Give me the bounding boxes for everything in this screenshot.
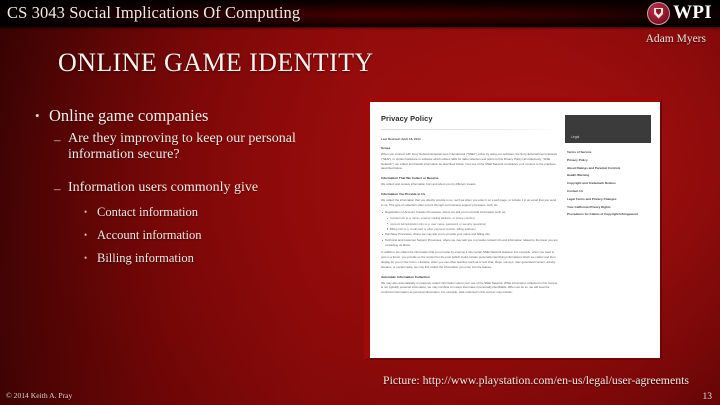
page-number: 13 xyxy=(703,392,713,402)
list-item: – Information users commonly give xyxy=(54,180,362,198)
picture-caption: Picture: http://www.playstation.com/en-u… xyxy=(360,373,712,388)
wpi-seal-icon xyxy=(647,2,670,25)
section-body-provide: We collect the information that you dire… xyxy=(381,198,559,208)
sidebar-item-terms-of-service[interactable]: Terms of Service xyxy=(567,150,651,154)
wpi-logo: WPI xyxy=(647,1,712,25)
bullet-dot-icon: • xyxy=(84,203,97,221)
bullet-sub2-item-2: Billing information xyxy=(97,249,194,267)
sidebar-item-copyright-infringement-claims[interactable]: Procedures for Claims of Copyright Infri… xyxy=(567,212,651,216)
copyright-notice: © 2014 Keith A. Pray xyxy=(6,391,72,400)
bullet-list: • Online game companies – Are they impro… xyxy=(32,105,362,267)
privacy-policy-document: Privacy Policy Last Revised: April 18, 2… xyxy=(370,102,660,358)
section-heading-provide: Information You Provide to Us xyxy=(381,192,559,196)
list-item: • Contact information xyxy=(84,203,362,221)
bullet-level1-text: Online game companies xyxy=(49,105,208,127)
sidebar-item-privacy-policy[interactable]: Privacy Policy xyxy=(567,158,651,162)
sidebar-item-contact-us[interactable]: Contact Us xyxy=(567,189,651,193)
bullet-dot-icon: • xyxy=(32,105,49,127)
shield-icon xyxy=(654,8,663,19)
section-heading-automatic: Automatic Information Collection xyxy=(381,275,559,279)
bullet-dash-icon: – xyxy=(54,180,68,198)
sidebar-item-health-warning[interactable]: Health Warning xyxy=(567,173,651,177)
list-item: Contact info (e.g. name, email or mailin… xyxy=(386,216,559,220)
bullet-dot-icon: • xyxy=(84,226,97,244)
bullet-dot-icon: • xyxy=(84,249,97,267)
sidebar-item-legal-terms-privacy-changes[interactable]: Legal Terms and Privacy Changes xyxy=(567,197,651,201)
list-item: • Account information xyxy=(84,226,362,244)
sidebar-item-california-privacy-rights[interactable]: Your California Privacy Rights xyxy=(567,205,651,209)
legal-panel-title: Legal xyxy=(571,135,579,139)
list-item: Registration or Account Creation Process… xyxy=(381,210,559,215)
list-item: Billing Info (e.g. credit card or other … xyxy=(386,227,559,231)
sidebar-item-ratings-parental-controls[interactable]: About Ratings and Parental Controls xyxy=(567,166,651,170)
section-body-scope: When you connect with Sony Network Enter… xyxy=(381,152,559,171)
page-title: ONLINE GAME IDENTITY xyxy=(58,48,374,78)
slide-header-bar: CS 3043 Social Implications Of Computing… xyxy=(0,0,720,27)
bullet-sub1-text: Are they improving to keep our personal … xyxy=(68,131,362,162)
list-item: • Billing information xyxy=(84,249,362,267)
forum-paragraph: In addition, we collect the information … xyxy=(381,250,559,269)
course-title: CS 3043 Social Implications Of Computing xyxy=(7,3,300,23)
last-revised-text: Last Revised: April 18, 2014 xyxy=(381,137,559,141)
bullet-dash-icon: – xyxy=(54,131,68,149)
screenshot-image: Privacy Policy Last Revised: April 18, 2… xyxy=(364,97,662,360)
list-item: Technical and Customer Support Processes… xyxy=(381,238,559,247)
legal-links-list: Terms of Service Privacy Policy About Ra… xyxy=(565,150,651,217)
presenter-name: Adam Myers xyxy=(646,33,706,45)
legal-panel-header: Legal xyxy=(565,115,651,143)
bullet-sub2-text: Information users commonly give xyxy=(68,180,258,196)
section-heading-scope: Scope xyxy=(381,146,559,150)
document-sidebar: Legal Terms of Service Privacy Policy Ab… xyxy=(565,112,651,358)
section-body-automatic: We may also automatically or passively c… xyxy=(381,281,559,295)
section-body-collect: We collect and receive information from … xyxy=(381,182,559,187)
list-item: Account Administration Info (e.g. user n… xyxy=(386,222,559,226)
wpi-wordmark: WPI xyxy=(673,2,712,24)
divider xyxy=(381,129,559,130)
sidebar-item-copyright-trademark[interactable]: Copyright and Trademark Notices xyxy=(567,181,651,185)
document-main-column: Privacy Policy Last Revised: April 18, 2… xyxy=(381,112,559,358)
presentation-slide: CS 3043 Social Implications Of Computing… xyxy=(0,0,720,405)
section-heading-collect: Information That We Collect or Receive xyxy=(381,176,559,180)
document-heading: Privacy Policy xyxy=(381,114,559,123)
bullet-sub2-item-1: Account information xyxy=(97,226,202,244)
list-item: – Are they improving to keep our persona… xyxy=(54,131,362,162)
list-spacer xyxy=(32,162,362,176)
list-item: Purchase Processes, where we may ask you… xyxy=(381,232,559,237)
provide-sublist: Contact info (e.g. name, email or mailin… xyxy=(386,216,559,231)
bullet-sub2-item-0: Contact information xyxy=(97,203,198,221)
list-item: • Online game companies xyxy=(32,105,362,127)
provide-list: Registration or Account Creation Process… xyxy=(381,210,559,247)
